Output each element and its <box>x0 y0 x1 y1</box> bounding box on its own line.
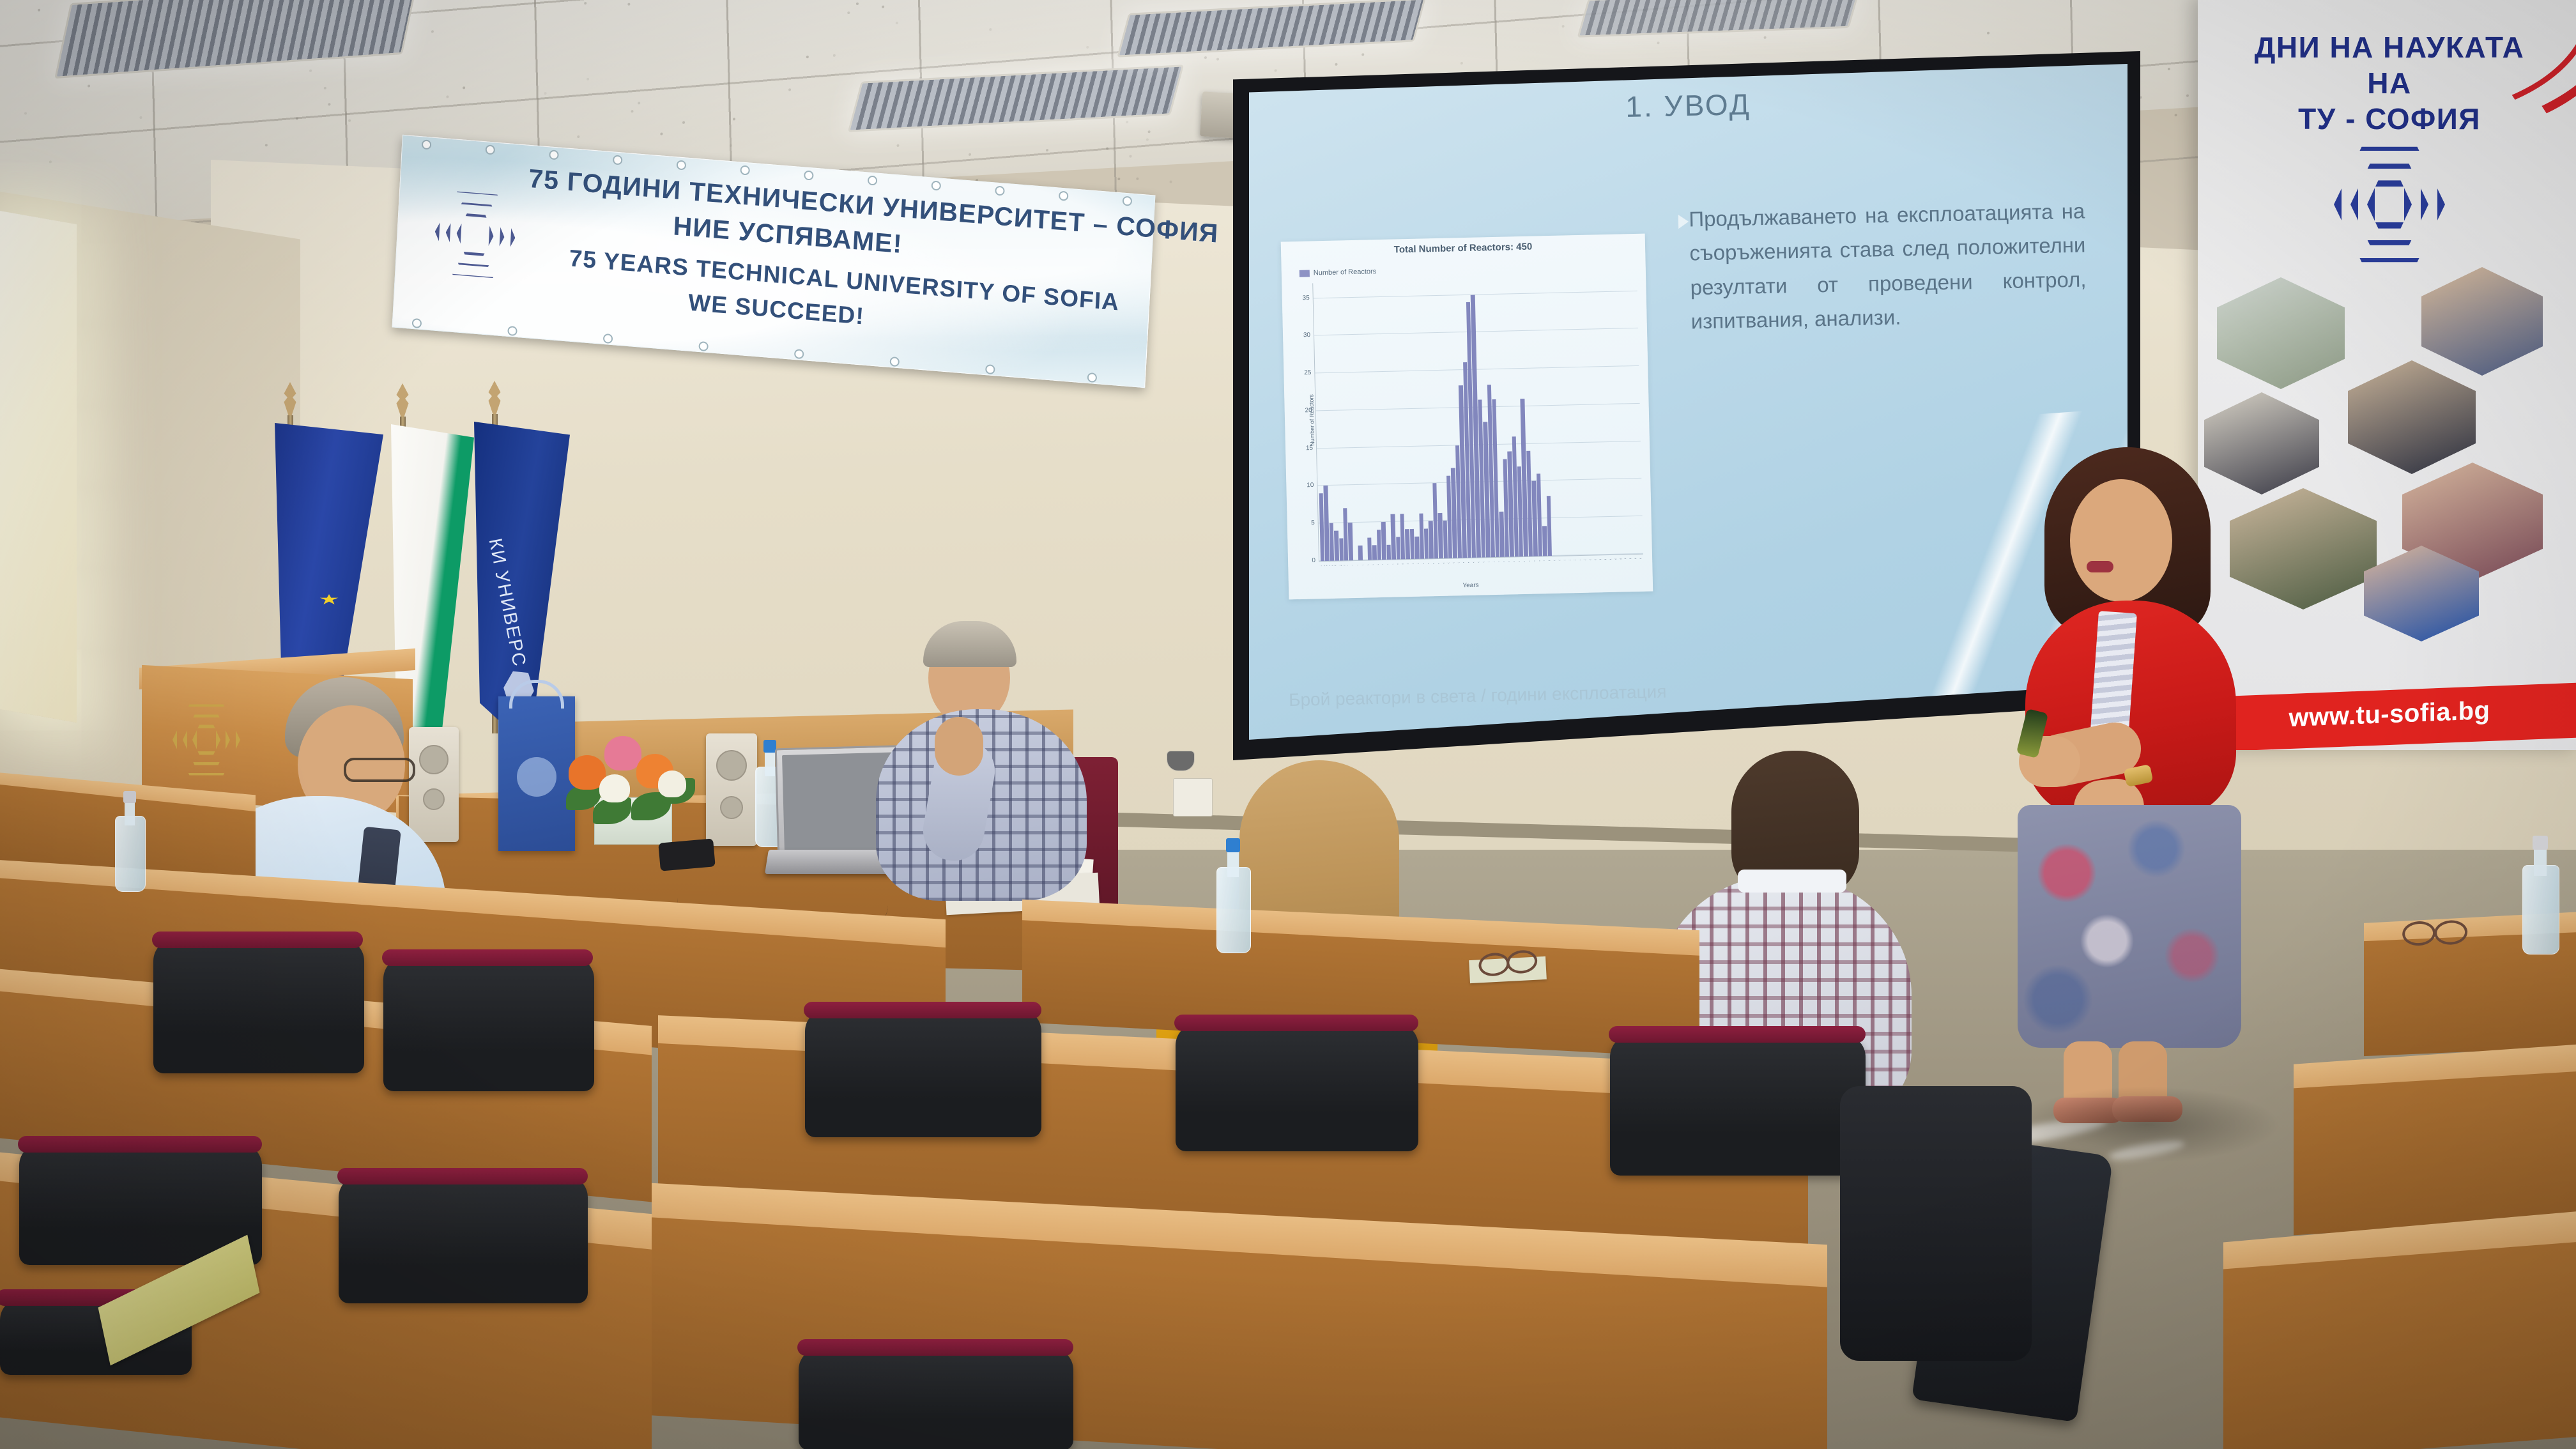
ceiling-texture-speck <box>1763 36 1766 39</box>
bouquet-flower-white-2 <box>658 770 686 797</box>
ceiling-texture-speck <box>882 5 884 8</box>
collage-photo-speaker <box>2348 360 2476 474</box>
ceiling-texture-speck <box>897 144 900 147</box>
chart-bar <box>1424 528 1429 558</box>
chart-plot-area: 05101520253035 <box>1312 276 1643 562</box>
ceiling-texture-speck <box>2168 68 2170 70</box>
chart-bar <box>1339 538 1344 560</box>
ceiling-texture-speck <box>989 28 992 31</box>
chair-7-cushion <box>337 1168 588 1184</box>
chair-2-cushion <box>382 949 593 966</box>
ceiling-texture-speck <box>328 103 330 105</box>
water-bottle-right-desk <box>2522 836 2558 954</box>
slide-bullet-text: Продължаването на експлоатацията на съор… <box>1689 194 2087 339</box>
ceiling-texture-speck <box>1987 31 1989 34</box>
chart-bar <box>1343 508 1348 560</box>
ceiling-texture-speck <box>1361 54 1364 56</box>
presenter-mouth <box>2087 561 2113 572</box>
rollup-title: ДНИ НА НАУКАТА НА ТУ - СОФИЯ <box>2198 29 2576 137</box>
ceiling-texture-speck <box>446 96 448 98</box>
ceiling-texture-speck <box>1106 147 1108 149</box>
ceiling-texture-speck <box>730 144 732 146</box>
chart-bar <box>1419 514 1424 559</box>
moderator-hair <box>923 621 1016 667</box>
bottle-neck <box>1227 850 1239 877</box>
ceiling-texture-speck <box>309 69 312 72</box>
chart-bar <box>1348 523 1353 560</box>
chart-bar <box>1542 526 1547 556</box>
chart-bar <box>1324 486 1330 561</box>
chart-bar <box>1391 514 1396 560</box>
chart-x-axis-label: Years <box>1289 578 1653 593</box>
chair-7[interactable] <box>339 1176 588 1303</box>
chair-3-cushion <box>804 1002 1041 1018</box>
bottle-cap <box>123 791 136 803</box>
ceiling-texture-speck <box>139 116 142 119</box>
chart-bar <box>1386 544 1391 560</box>
presenter-head <box>2070 479 2172 602</box>
bottle-neck <box>765 751 776 776</box>
ceiling-texture-speck <box>1086 46 1089 49</box>
slide-chart: Total Number of Reactors: 450 Number of … <box>1281 234 1653 600</box>
chart-bar <box>1438 513 1443 558</box>
chair-5-cushion <box>1609 1026 1866 1043</box>
chart-bar <box>1367 537 1372 560</box>
bottle-cap <box>2533 836 2549 850</box>
ceiling-texture-speck <box>806 56 809 58</box>
ceiling-texture-speck <box>584 2 586 4</box>
projection-screen: 1. УВОД Total Number of Reactors: 450 Nu… <box>1249 64 2127 741</box>
attendee-right-collar <box>1738 870 1846 893</box>
ceiling-texture-speck <box>631 110 634 112</box>
chart-y-tick: 0 <box>1312 557 1315 564</box>
bouquet-flower-white <box>599 774 630 802</box>
ceiling-texture-speck <box>1204 56 1207 59</box>
chart-bars <box>1313 276 1643 561</box>
chair-foreground-right[interactable] <box>1840 1086 2032 1361</box>
ceiling-texture-speck <box>733 118 735 120</box>
ceiling-texture-speck <box>682 121 685 123</box>
chart-title: Total Number of Reactors: 450 <box>1281 239 1645 258</box>
ceiling-texture-speck <box>2175 114 2177 116</box>
ceiling-texture-speck <box>577 135 579 138</box>
lecture-hall-photo: 75 ГОДИНИ ТЕХНИЧЕСКИ УНИВЕРСИТЕТ – СОФИЯ… <box>0 0 2576 1449</box>
chart-bar <box>1334 531 1338 561</box>
presenter-skirt-floral <box>2018 805 2241 1048</box>
desk-right-row2-front <box>2294 1071 2576 1236</box>
chart-bar <box>1410 529 1414 559</box>
chart-bar <box>1396 537 1400 559</box>
ceiling-texture-speck <box>1146 138 1149 141</box>
ceiling-texture-speck <box>24 112 27 114</box>
chart-y-tick: 15 <box>1306 445 1313 452</box>
ceiling-texture-speck <box>1216 58 1219 61</box>
rollup-title-line-1: ДНИ НА НАУКАТА <box>2198 29 2576 65</box>
ceiling-texture-speck <box>1126 121 1128 123</box>
desk-right-row3-front <box>2223 1241 2576 1449</box>
ceiling-texture-speck <box>1136 178 1138 180</box>
chart-bar <box>1414 536 1419 558</box>
chair-4[interactable] <box>1176 1023 1418 1151</box>
ceiling-texture-speck <box>1335 63 1337 65</box>
chart-y-tick: 25 <box>1304 369 1311 376</box>
ceiling-texture-speck <box>38 9 40 11</box>
bottle-neck <box>125 801 135 825</box>
chair-1[interactable] <box>153 939 364 1073</box>
chart-bar <box>1443 521 1448 558</box>
legend-swatch-icon <box>1299 270 1310 277</box>
bullet-marker-icon <box>1678 215 1689 229</box>
ceiling-texture-speck <box>544 92 547 95</box>
ceiling-texture-speck <box>1170 180 1172 183</box>
ceiling-texture-speck <box>1147 130 1150 133</box>
chart-bar <box>1377 530 1381 560</box>
ceiling-texture-speck <box>969 153 971 156</box>
ceiling-texture-speck <box>295 117 298 119</box>
desktop-speaker-right <box>706 733 757 846</box>
ceiling-texture-speck <box>265 144 268 146</box>
ceiling-texture-speck <box>627 3 630 6</box>
chart-y-tick: 35 <box>1302 295 1309 302</box>
attendee-left-eyeglasses-icon <box>344 758 415 782</box>
rollup-photo-collage <box>2211 271 2568 629</box>
bouquet-flower-pink <box>604 736 641 770</box>
rollup-tu-sofia-logo-icon <box>2333 148 2446 261</box>
chart-bar <box>1432 484 1438 559</box>
ceiling-texture-speck <box>638 102 640 104</box>
chart-legend: Number of Reactors <box>1299 268 1377 277</box>
legend-label: Number of Reactors <box>1314 268 1377 277</box>
chair-8-cushion <box>797 1339 1073 1356</box>
moderator-hand <box>935 717 983 776</box>
chart-bar <box>1405 529 1409 559</box>
ceiling-texture-speck <box>1046 149 1048 151</box>
ceiling-texture-speck <box>896 21 898 24</box>
water-bottle-left-desk <box>115 791 144 892</box>
ceiling-texture-speck <box>324 87 326 89</box>
rollup-title-line-2: НА <box>2198 65 2576 101</box>
ceiling-texture-speck <box>463 87 465 89</box>
ceiling-texture-speck <box>1562 25 1565 27</box>
ceiling-texture-speck <box>348 119 351 122</box>
ceiling-texture-speck <box>586 77 589 80</box>
chart-y-tick: 10 <box>1307 482 1314 489</box>
chair-3[interactable] <box>805 1009 1041 1137</box>
ceiling-texture-speck <box>1460 62 1463 65</box>
ceiling-texture-speck <box>919 77 922 79</box>
person-moderator <box>853 620 1096 894</box>
window-daylight <box>0 211 77 723</box>
chart-bar <box>1400 514 1405 560</box>
water-bottle-center-desk <box>1216 838 1250 953</box>
power-adapter <box>658 838 716 871</box>
ceiling-texture-speck <box>660 132 663 135</box>
collage-photo-building <box>2217 277 2345 389</box>
ceiling-texture-speck <box>1275 69 1277 72</box>
bottle-body <box>2522 865 2559 954</box>
chart-bar <box>1381 522 1386 560</box>
chart-bar <box>1429 521 1434 558</box>
ceiling-texture-speck <box>88 85 90 88</box>
chair-6-cushion <box>18 1136 262 1153</box>
ceiling-texture-speck <box>431 30 434 33</box>
chart-bar <box>1546 496 1552 556</box>
ceiling-texture-speck <box>1117 178 1120 180</box>
ceiling-texture-speck <box>833 54 836 57</box>
person-presenter <box>2000 447 2255 1124</box>
tote-bag-emblem-icon <box>517 757 556 797</box>
chart-bar <box>1330 523 1335 561</box>
collage-photo-portrait-1 <box>2421 267 2543 376</box>
ceiling-texture-speck <box>855 3 858 5</box>
chart-y-tick: 5 <box>1311 519 1315 526</box>
ceiling-texture-speck <box>1130 155 1132 158</box>
bottle-body <box>1216 867 1251 953</box>
chair-8[interactable] <box>799 1348 1073 1449</box>
bottle-cap <box>1226 838 1241 852</box>
banner-tu-sofia-logo-icon <box>411 166 539 303</box>
chart-bar <box>1358 545 1363 560</box>
chart-x-tick-labels: 1234567891011121314151617181920212223242… <box>1319 558 1643 578</box>
bottle-body <box>115 816 146 892</box>
flower-bouquet <box>562 728 703 831</box>
ceiling-texture-speck <box>2186 94 2189 96</box>
chart-bar <box>1372 545 1377 560</box>
chair-2[interactable] <box>383 957 594 1091</box>
chair-1-cushion <box>152 931 363 948</box>
ceiling-texture-speck <box>847 11 850 13</box>
chair-5[interactable] <box>1610 1035 1866 1176</box>
banner-line-4: WE SUCCEED! <box>687 289 865 330</box>
chart-y-tick: 30 <box>1303 332 1310 339</box>
rollup-title-line-3: ТУ - СОФИЯ <box>2198 101 2576 137</box>
bottle-neck <box>2534 848 2547 877</box>
ceiling-texture-speck <box>49 160 52 163</box>
chart-y-tick: 20 <box>1305 407 1312 414</box>
chair-4-cushion <box>1174 1015 1418 1031</box>
ceiling-texture-speck <box>1657 42 1659 44</box>
ceiling-texture-speck <box>788 89 791 91</box>
